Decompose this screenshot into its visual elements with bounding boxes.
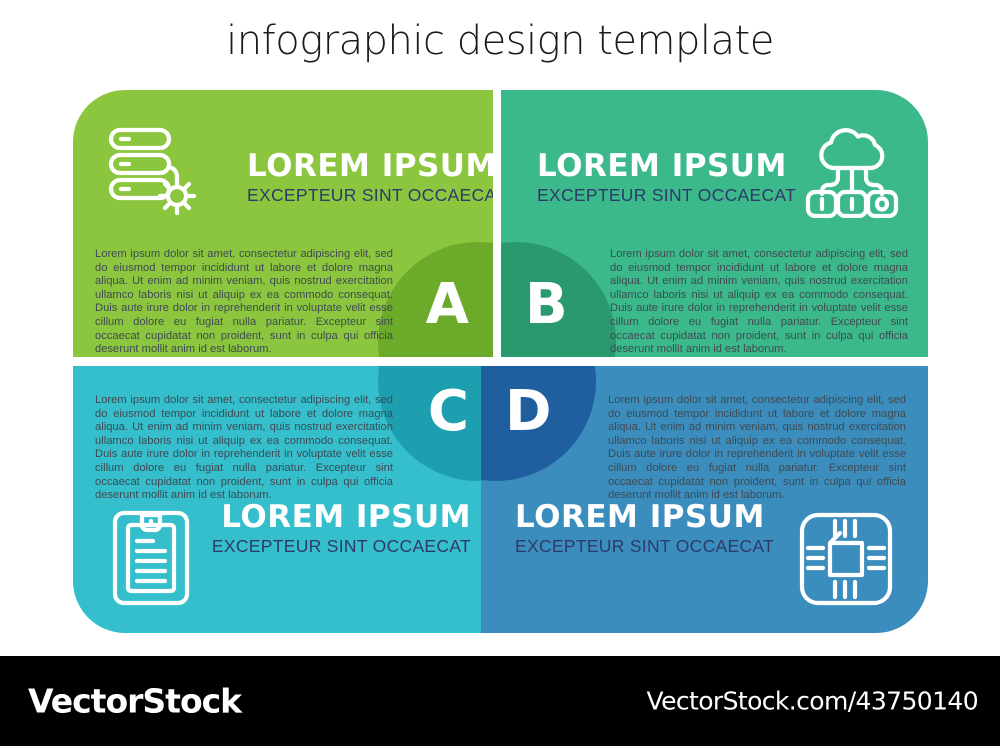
panel-d-heading: LOREM IPSUM (515, 501, 774, 534)
panel-b-body-text: Lorem ipsum dolor sit amet, consectetur … (610, 248, 908, 357)
panel-d[interactable]: D LOREM IPSUM EXCEPTEUR SINT OC (481, 366, 928, 633)
panel-c[interactable]: C LOREM IPSUM EXCEPTEUR SINT OCCAECAT Lo… (73, 366, 493, 633)
panel-b-badge-letter: B (525, 277, 568, 333)
vectorstock-logo: VectorStock (28, 682, 241, 721)
panel-a-badge-letter: A (426, 277, 469, 333)
panel-a-body-text: Lorem ipsum dolor sit amet, consectetur … (95, 248, 393, 357)
panel-a-heading: LOREM IPSUM (247, 150, 493, 183)
panel-d-subheading: EXCEPTEUR SINT OCCAECAT (515, 536, 774, 557)
panel-c-heading-block: LOREM IPSUM EXCEPTEUR SINT OCCAECAT (212, 501, 471, 557)
page-title: infographic design template (0, 18, 1000, 64)
panel-d-heading-block: LOREM IPSUM EXCEPTEUR SINT OCCAECAT (515, 501, 774, 557)
panel-b-heading-block: LOREM IPSUM EXCEPTEUR SINT OCCAECAT (537, 150, 796, 206)
footer-bar: VectorStock VectorStock.com/43750140 (0, 656, 1000, 746)
panel-d-badge-letter: D (505, 384, 551, 440)
panel-b[interactable]: B LOREM IPSUM EXCEPTEUR SINT OCCAECAT Lo… (501, 90, 928, 357)
server-gear-icon (103, 122, 203, 222)
panel-b-heading: LOREM IPSUM (537, 150, 796, 183)
panel-c-body-text: Lorem ipsum dolor sit amet, consectetur … (95, 394, 393, 503)
panel-c-badge-letter: C (428, 384, 469, 440)
cloud-network-icon (802, 122, 902, 218)
panel-a-heading-block: LOREM IPSUM EXCEPTEUR SINT OCCAECAT (247, 150, 493, 206)
processor-chip-icon (798, 511, 894, 607)
panel-d-body-text: Lorem ipsum dolor sit amet, consectetur … (608, 394, 906, 503)
panel-c-subheading: EXCEPTEUR SINT OCCAECAT (212, 536, 471, 557)
panel-a[interactable]: A LOREM IPSUM EXCEPTEUR SINT OCCAECAT Lo… (73, 90, 493, 357)
panel-a-subheading: EXCEPTEUR SINT OCCAECAT (247, 185, 493, 206)
panel-b-subheading: EXCEPTEUR SINT OCCAECAT (537, 185, 796, 206)
clipboard-document-icon (111, 509, 191, 607)
panel-c-heading: LOREM IPSUM (212, 501, 471, 534)
vectorstock-url: VectorStock.com/43750140 (647, 687, 978, 716)
infographic-board: A LOREM IPSUM EXCEPTEUR SINT OCCAECAT Lo… (73, 90, 928, 626)
